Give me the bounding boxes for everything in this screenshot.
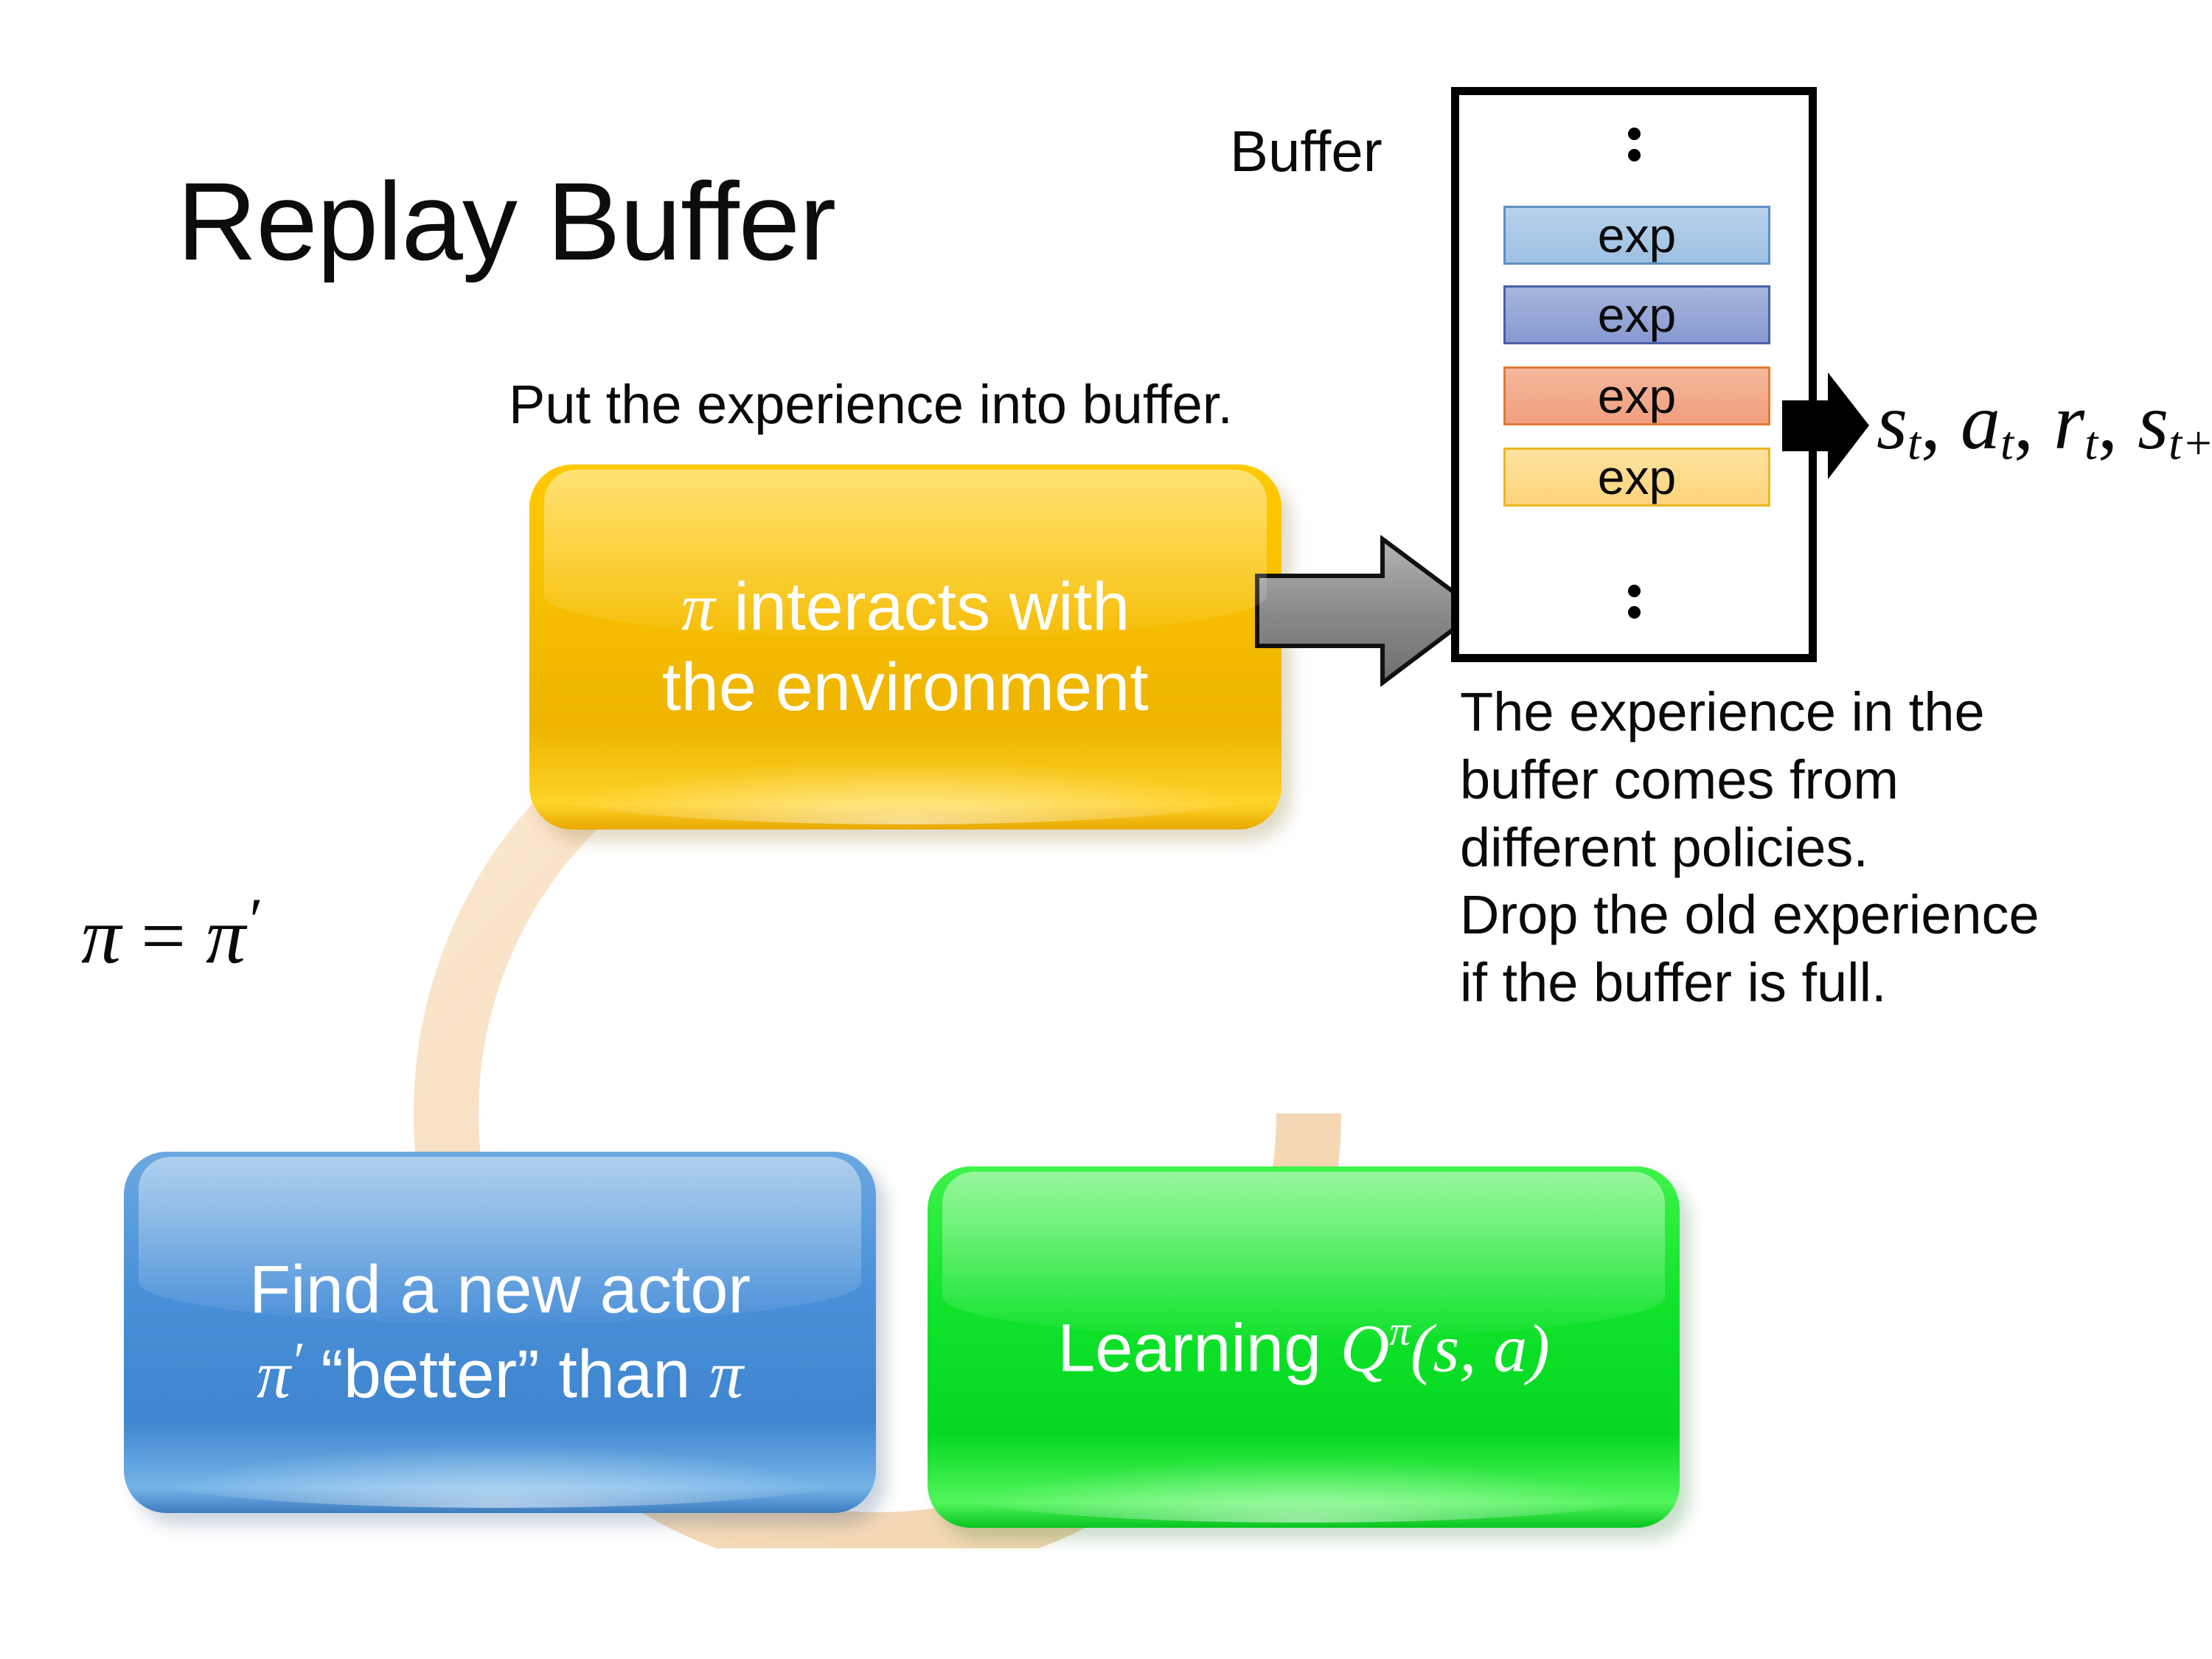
learning-prefix: Learning: [1057, 1310, 1340, 1385]
policy-update-equation: π = π′: [81, 885, 260, 982]
put-experience-caption: Put the experience into buffer.: [509, 375, 1233, 436]
cycle-node-interact[interactable]: π interacts with the environment: [529, 465, 1281, 829]
buffer-entry[interactable]: exp: [1503, 366, 1770, 425]
equals-sign: =: [121, 892, 206, 980]
pi-symbol: π: [81, 892, 121, 980]
comma: ,: [2014, 378, 2053, 466]
buffer-entry[interactable]: exp: [1503, 448, 1770, 507]
bottom-highlight: [147, 1446, 854, 1507]
comma: ,: [2098, 378, 2138, 466]
page-title: Replay Buffer: [177, 166, 1062, 276]
sample-out-arrow: [1782, 372, 1869, 479]
time-index: t: [2084, 417, 2098, 470]
pi-symbol: π: [709, 1337, 743, 1412]
next-time-index: t+1: [2168, 417, 2212, 470]
buffer-note-line: The experience in the: [1460, 678, 2205, 746]
q-symbol: Q: [1340, 1310, 1389, 1385]
buffer-top-ellipsis-icon: [1459, 128, 1809, 161]
buffer-note-line: buffer comes from: [1460, 746, 2205, 814]
find-actor-line1: Find a new actor: [249, 1252, 751, 1327]
bottom-highlight: [950, 1461, 1658, 1522]
interact-line1: interacts with: [715, 569, 1130, 644]
buffer-container: exp exp exp exp: [1451, 87, 1817, 662]
cycle-node-interact-label: π interacts with the environment: [637, 567, 1174, 727]
buffer-note-line: if the buffer is full.: [1460, 949, 2205, 1017]
find-actor-line2-mid: “better” than: [302, 1337, 709, 1412]
pi-prime-symbol: π: [257, 1337, 291, 1412]
state-symbol: s: [1877, 378, 1907, 466]
pi-symbol: π: [681, 569, 715, 644]
buffer-entry[interactable]: exp: [1503, 285, 1770, 344]
push-to-buffer-arrow: [1253, 535, 1482, 686]
sampled-tuple-formula: st, at, rt, st+1: [1877, 375, 2212, 471]
next-state-symbol: s: [2138, 378, 2168, 466]
buffer-note: The experience in the buffer comes from …: [1460, 678, 2205, 1017]
time-index: t: [1907, 417, 1921, 470]
cycle-node-learning-label: Learning Qπ(s, a): [1032, 1307, 1575, 1388]
buffer-note-line: Drop the old experience: [1460, 881, 2205, 949]
bottom-highlight: [552, 762, 1259, 824]
pi-superscript: π: [1389, 1308, 1411, 1354]
interact-line2: the environment: [662, 650, 1149, 725]
cycle-node-find-actor[interactable]: Find a new actor π′ “better” than π: [124, 1152, 876, 1513]
pi-prime-symbol: π: [206, 892, 246, 980]
buffer-note-line: different policies.: [1460, 814, 2205, 882]
buffer-bottom-ellipsis-icon: [1459, 585, 1809, 619]
comma: ,: [1921, 378, 1961, 466]
prime-mark: ′: [246, 886, 259, 955]
time-index: t: [2000, 417, 2014, 470]
prime-mark: ′: [291, 1332, 302, 1391]
action-symbol: a: [1961, 378, 2000, 466]
cycle-node-learning[interactable]: Learning Qπ(s, a): [928, 1166, 1680, 1528]
cycle-node-find-actor-label: Find a new actor π′ “better” than π: [224, 1250, 776, 1414]
buffer-label: Buffer: [1230, 119, 1382, 184]
buffer-entry[interactable]: exp: [1503, 206, 1770, 265]
reward-symbol: r: [2053, 378, 2084, 466]
q-arguments: (s, a): [1411, 1310, 1550, 1385]
